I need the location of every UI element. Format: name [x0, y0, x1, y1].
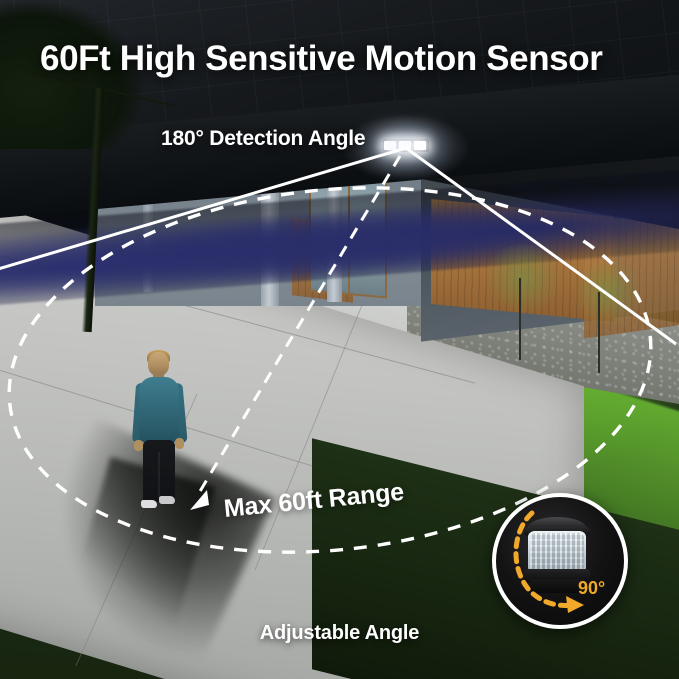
led-panel	[399, 141, 411, 150]
infographic-canvas: 90° 60Ft High Sensitive Motion Sensor 18…	[0, 0, 679, 679]
person-legs	[143, 440, 175, 502]
small-tree-trunk	[598, 292, 600, 373]
curved-arrow-icon	[496, 497, 624, 625]
person-shoe-right	[159, 496, 175, 504]
person-hand-right	[175, 438, 184, 449]
person-torso	[139, 377, 179, 443]
small-tree-canopy	[482, 244, 563, 312]
led-flood-light-icon	[383, 139, 429, 152]
led-panel	[414, 141, 426, 150]
led-panel	[384, 141, 396, 150]
adjustable-angle-inset	[492, 493, 628, 629]
small-tree-canopy	[570, 261, 645, 322]
detection-angle-label: 180° Detection Angle	[161, 127, 365, 151]
rotation-arc	[516, 513, 572, 605]
walking-person	[126, 352, 196, 517]
person-shoe-left	[141, 500, 157, 508]
adjustable-angle-label: Adjustable Angle	[0, 622, 679, 645]
small-tree-trunk	[519, 278, 521, 359]
person-hand-left	[134, 440, 143, 451]
page-title: 60Ft High Sensitive Motion Sensor	[40, 39, 602, 79]
angle-value-label: 90°	[578, 578, 605, 599]
